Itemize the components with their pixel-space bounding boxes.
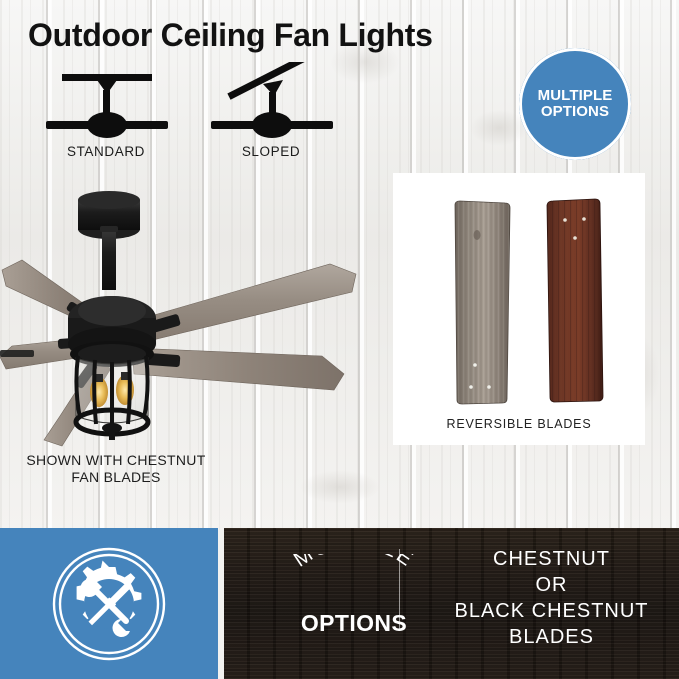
infographic-canvas: Outdoor Ceiling Fan Lights STANDARD SLOP…	[0, 0, 679, 679]
mount-type-label: SLOPED	[205, 144, 337, 159]
fan-caption-line-2: FAN BLADES	[0, 469, 232, 486]
blade-finish-line-3: BLACK CHESTNUT	[424, 598, 679, 624]
ceiling-fan-photo	[0, 178, 390, 468]
badge-line-1: MULTIPLE	[538, 88, 613, 104]
blade-finish-line-2: OR	[424, 572, 679, 598]
reversible-blades-caption: REVERSIBLE BLADES	[393, 417, 645, 431]
black-chestnut-blade	[547, 199, 603, 402]
ceiling-fan-illustration	[0, 178, 390, 468]
options-text: OPTIONS	[259, 610, 449, 637]
mount-type-label: STANDARD	[40, 144, 172, 159]
sloped-mount-icon	[205, 62, 337, 140]
wood-knot	[300, 470, 380, 504]
standard-mount-icon	[40, 68, 172, 140]
blade-pair-illustration	[393, 173, 645, 409]
badge-text: MULTIPLE OPTIONS	[538, 88, 613, 120]
multiple-options-badge: MULTIPLE OPTIONS	[519, 48, 631, 160]
reversible-blades-panel: REVERSIBLE BLADES	[393, 173, 645, 445]
banner-divider	[399, 549, 400, 631]
multiple-options-stack: MULTIPLE OPTIONS	[259, 554, 449, 654]
blade-finish-line-4: BLADES	[424, 624, 679, 650]
chestnut-blade	[455, 201, 510, 404]
mount-type-standard: STANDARD	[40, 68, 172, 154]
banner-blue-panel	[0, 528, 218, 679]
fan-caption-line-1: SHOWN WITH CHESTNUT	[0, 452, 232, 469]
arched-multiple-text: MULTIPLE	[259, 554, 449, 614]
bottom-banner: MULTIPLE OPTIONS CHESTNUT OR BLACK CHEST…	[0, 528, 679, 679]
blade-finish-text: CHESTNUT OR BLACK CHESTNUT BLADES	[424, 546, 679, 650]
blade-finish-line-1: CHESTNUT	[424, 546, 679, 572]
page-title: Outdoor Ceiling Fan Lights	[28, 17, 433, 54]
mount-type-sloped: SLOPED	[205, 62, 337, 154]
gear-tools-icon	[50, 545, 168, 663]
badge-line-2: OPTIONS	[538, 104, 613, 120]
banner-wood-panel: MULTIPLE OPTIONS CHESTNUT OR BLACK CHEST…	[224, 528, 679, 679]
fan-photo-caption: SHOWN WITH CHESTNUT FAN BLADES	[0, 452, 232, 486]
